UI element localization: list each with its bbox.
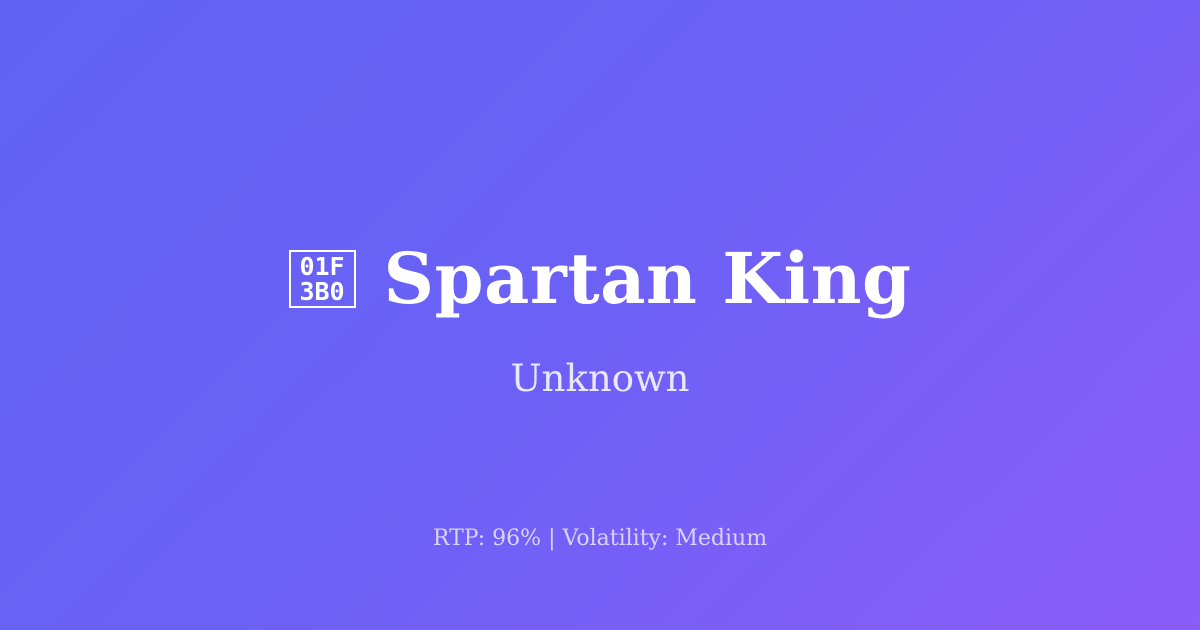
tofu-codepoint-bottom: 3B0 xyxy=(299,279,344,304)
slot-machine-emoji-icon: 01F 3B0 xyxy=(289,250,356,308)
game-title: Spartan King xyxy=(384,244,912,314)
title-row: 01F 3B0 Spartan King xyxy=(289,236,912,322)
game-provider-subtitle: Unknown xyxy=(510,360,689,397)
tofu-codepoint-top: 01F xyxy=(299,254,344,279)
game-stats-meta: RTP: 96% | Volatility: Medium xyxy=(0,528,1200,550)
card-center-stack: 01F 3B0 Spartan King Unknown xyxy=(0,236,1200,397)
game-og-card: 01F 3B0 Spartan King Unknown RTP: 96% | … xyxy=(0,0,1200,630)
